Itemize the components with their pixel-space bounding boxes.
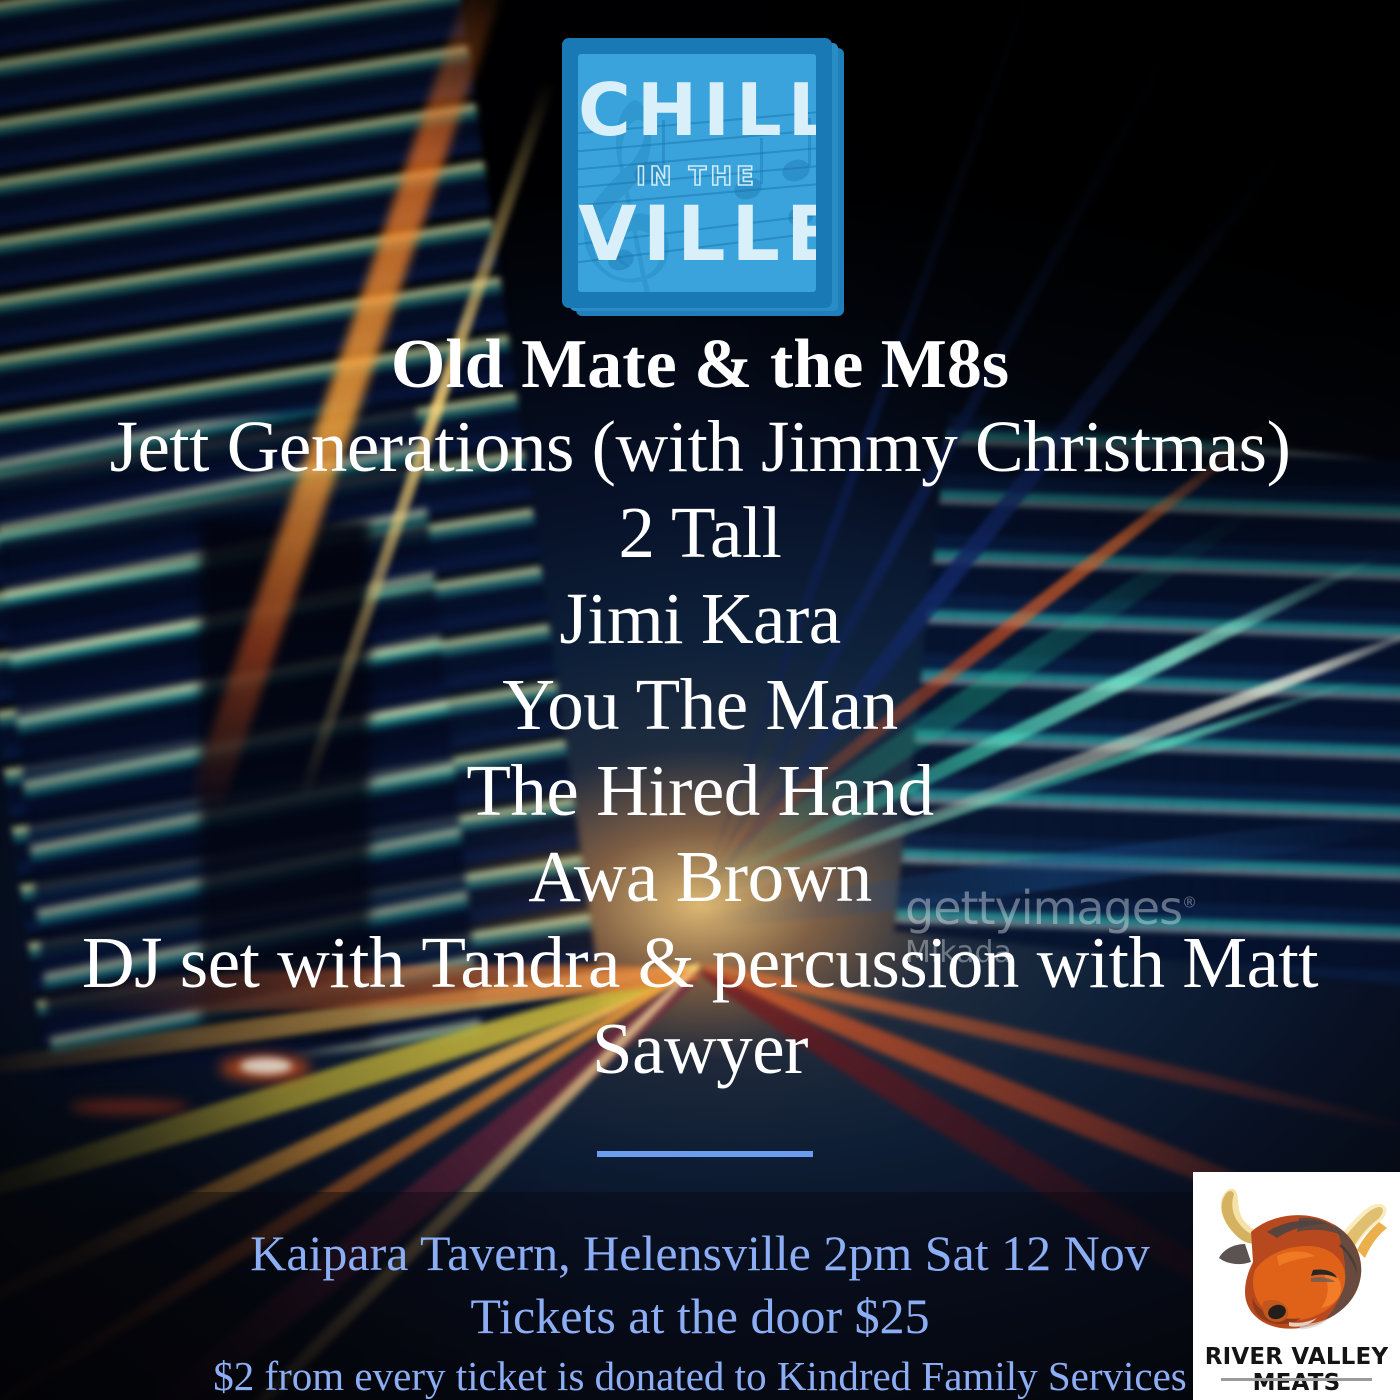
logo-line-in-the: IN THE [578,162,816,192]
event-details: Kaipara Tavern, Helensville 2pm Sat 12 N… [0,1225,1400,1400]
lineup-act-7: DJ set with Tandra & percussion with Mat… [40,920,1360,1092]
donation-line: $2 from every ticket is donated to Kindr… [0,1353,1400,1400]
lineup-act-4: You The Man [0,662,1400,748]
section-divider [597,1151,813,1157]
ticket-price-line: Tickets at the door $25 [0,1288,1400,1345]
venue-and-time-line: Kaipara Tavern, Helensville 2pm Sat 12 N… [0,1225,1400,1282]
logo-frame: 𝄞 CHILL IN THE VILLE [562,38,832,308]
event-poster: gettyimages® Mikada 𝄞 [0,0,1400,1400]
lineup-act-5: The Hired Hand [0,748,1400,834]
logo-inner-panel: 𝄞 CHILL IN THE VILLE [578,54,816,292]
sponsor-underline [1221,1378,1372,1381]
lineup-act-2: 2 Tall [0,490,1400,576]
logo-wordmark: CHILL IN THE VILLE [578,54,816,292]
bull-head-icon [1193,1174,1400,1340]
lineup-act-1: Jett Generations (with Jimmy Christmas) [40,404,1360,490]
sponsor-name: RIVER VALLEY MEATS [1193,1344,1400,1396]
sponsor-logo-river-valley-meats: RIVER VALLEY MEATS [1193,1172,1400,1400]
lineup-act-3: Jimi Kara [0,576,1400,662]
lineup-list: Old Mate & the M8s Jett Generations (wit… [0,326,1400,1092]
logo-line-ville: VILLE [578,196,816,272]
chill-in-the-ville-logo: 𝄞 CHILL IN THE VILLE [562,38,844,318]
headliner-act: Old Mate & the M8s [0,326,1400,404]
bull-head-icon-svg [1193,1174,1400,1340]
logo-line-chill: CHILL [578,74,816,146]
lineup-act-6: Awa Brown [0,834,1400,920]
